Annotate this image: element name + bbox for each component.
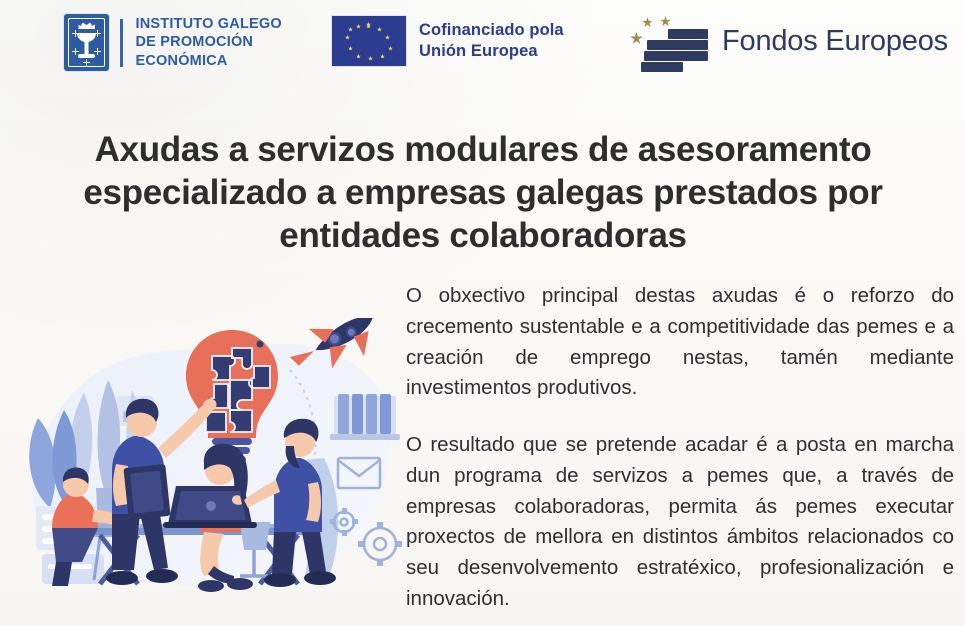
logo-divider (120, 19, 123, 67)
paragraph-objective: O obxectivo principal destas axudas é o … (406, 281, 954, 404)
team-collaboration-illustration (8, 318, 402, 618)
page-title: Axudas a servizos modulares de asesorame… (38, 129, 928, 257)
eu-flag-icon (332, 16, 406, 66)
body-text-column: O obxectivo principal destas axudas é o … (406, 281, 954, 615)
european-union-logo: Cofinanciado pola Unión Europea (332, 16, 564, 66)
header-logo-bar: INSTITUTO GALEGO DE PROMOCIÓN ECONÓMICA … (0, 0, 965, 88)
paragraph-result: O resultado que se pretende acadar é a p… (406, 430, 954, 615)
igape-logo-text: INSTITUTO GALEGO DE PROMOCIÓN ECONÓMICA (136, 15, 282, 71)
fondos-europeos-mark-icon (624, 8, 708, 74)
fondos-europeos-logo-text: Fondos Europeos (722, 25, 948, 58)
igape-logo: INSTITUTO GALEGO DE PROMOCIÓN ECONÓMICA (64, 14, 282, 71)
eu-logo-text: Cofinanciado pola Unión Europea (419, 20, 564, 62)
fondos-europeos-logo: Fondos Europeos (624, 8, 948, 74)
galicia-coat-of-arms-icon (64, 14, 109, 71)
